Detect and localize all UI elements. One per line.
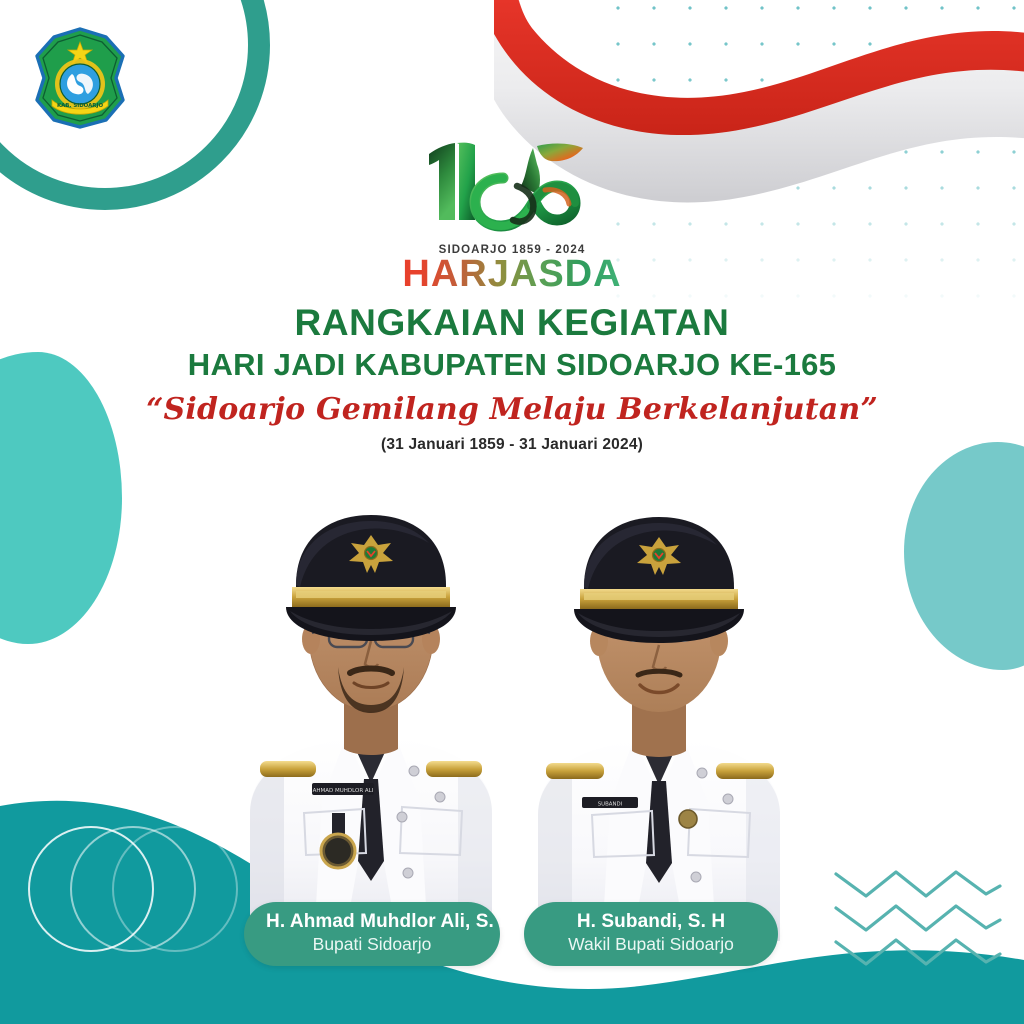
headline-line-1: RANGKAIAN KEGIATAN <box>0 302 1024 343</box>
headline-tagline: “Sidoarjo Gemilang Melaju Berkelanjutan” <box>0 392 1024 427</box>
official-portrait-bupati: AHMAD MUHDLOR ALI <box>226 461 516 941</box>
svg-text:SUBANDI: SUBANDI <box>598 802 623 808</box>
officials-portraits: AHMAD MUHDLOR ALI <box>0 455 1024 955</box>
headline-block: RANGKAIAN KEGIATAN HARI JADI KABUPATEN S… <box>0 302 1024 454</box>
sidoarjo-coat-of-arms: KAB. SIDOARJO <box>28 26 132 130</box>
poster-canvas: KAB. SIDOARJO <box>0 0 1024 1024</box>
badge-bupati-name: H. Ahmad Muhdlor Ali, S. IP <box>266 911 478 933</box>
headline-line-2: HARI JADI KABUPATEN SIDOARJO KE-165 <box>0 347 1024 384</box>
badge-bupati-role: Bupati Sidoarjo <box>266 934 478 955</box>
headline-date-range: (31 Januari 1859 - 31 Januari 2024) <box>0 436 1024 454</box>
official-portrait-wakil-bupati: SUBANDI <box>520 467 800 941</box>
logo-165-mark <box>417 134 607 242</box>
logo-wordmark: HARJASDA <box>382 255 642 293</box>
badge-wakil-bupati-role: Wakil Bupati Sidoarjo <box>546 934 756 955</box>
badge-bupati: H. Ahmad Muhdlor Ali, S. IP Bupati Sidoa… <box>244 902 500 966</box>
name-badges: H. Ahmad Muhdlor Ali, S. IP Bupati Sidoa… <box>0 902 1024 972</box>
badge-wakil-bupati-name: H. Subandi, S. H <box>546 911 756 933</box>
badge-wakil-bupati: H. Subandi, S. H Wakil Bupati Sidoarjo <box>524 902 778 966</box>
svg-text:KAB. SIDOARJO: KAB. SIDOARJO <box>57 103 104 109</box>
anniversary-logo: SIDOARJO 1859 - 2024 HARJASDA <box>382 134 642 293</box>
dot-grid-pattern <box>600 0 1024 320</box>
svg-text:AHMAD MUHDLOR ALI: AHMAD MUHDLOR ALI <box>313 788 374 794</box>
